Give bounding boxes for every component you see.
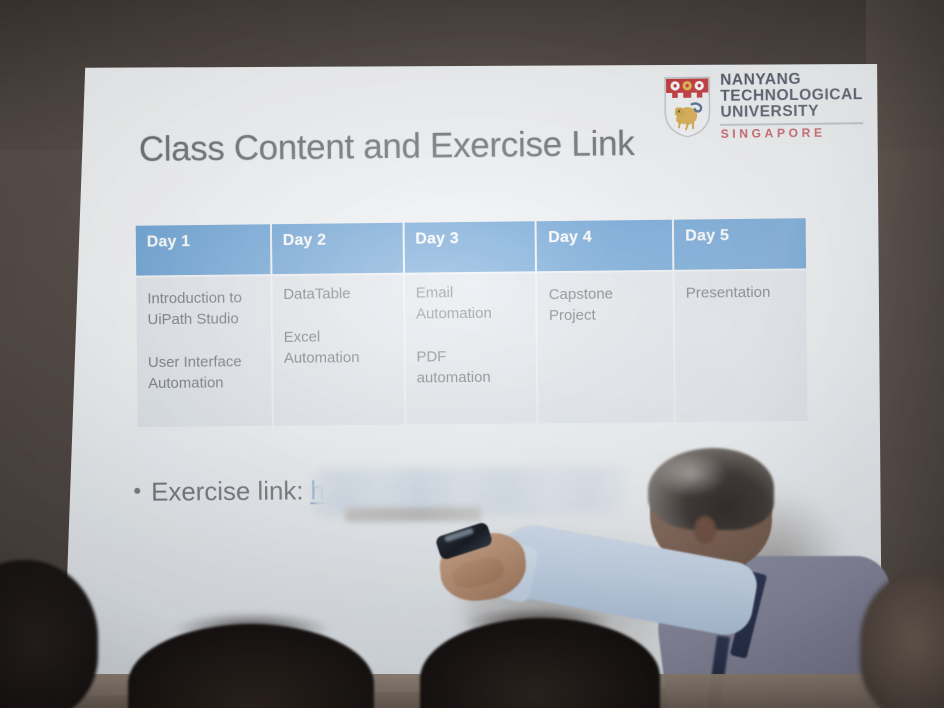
exercise-link-bullet: Exercise link: h [134,475,325,508]
table-cell-day-2: DataTable Excel Automation [272,275,404,426]
redacted-url-blur-secondary [345,507,481,522]
table-cell-day-1: Introduction to UiPath Studio User Inter… [136,276,271,427]
table-cell-day-5: Presentation [675,270,808,422]
ntu-line-3: UNIVERSITY [720,103,863,121]
projector-screen: Class Content and Exercise Link [58,64,882,696]
exercise-link-label: Exercise link: [151,475,304,507]
table-header-day-2: Day 2 [272,223,403,274]
ntu-wordmark: NANYANG TECHNOLOGICAL UNIVERSITY SINGAPO… [720,71,863,141]
class-schedule-table: Day 1 Day 2 Day 3 Day 4 Day 5 Introducti… [136,218,808,427]
presentation-slide: Class Content and Exercise Link [57,59,887,699]
table-header-day-1: Day 1 [136,224,270,275]
table-header-day-3: Day 3 [404,221,535,272]
ntu-divider [721,123,864,126]
table-header-day-4: Day 4 [537,220,673,272]
ntu-logo: NANYANG TECHNOLOGICAL UNIVERSITY SINGAPO… [664,71,864,141]
table-header-row: Day 1 Day 2 Day 3 Day 4 Day 5 [136,218,806,275]
bullet-dot-icon [134,488,140,494]
table-cell-day-3: Email Automation PDF automation [405,273,537,424]
ntu-crest-icon [664,76,712,139]
table-header-day-5: Day 5 [674,218,806,270]
table-cell-day-4: Capstone Project [537,272,673,424]
table-body-row: Introduction to UiPath Studio User Inter… [136,270,807,427]
slide-title: Class Content and Exercise Link [139,124,635,170]
ntu-subtitle: SINGAPORE [721,127,864,141]
classroom-photo-scene: Class Content and Exercise Link [0,0,944,708]
